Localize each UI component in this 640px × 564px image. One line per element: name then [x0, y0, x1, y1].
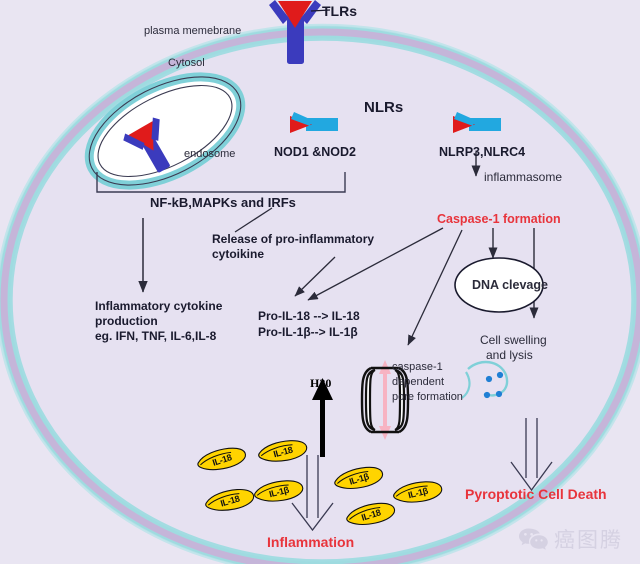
wechat-icon	[518, 527, 548, 551]
h2o-label: H20	[310, 376, 331, 390]
pore-line3: pore formation	[392, 391, 463, 404]
pyroptotic-label: Pyroptotic Cell Death	[465, 486, 607, 503]
figure-canvas: plasma memebrane Cytosol endosome TLRs N…	[0, 0, 640, 564]
inflammatory-production-line3: eg. IFN, TNF, IL-6,IL-8	[95, 329, 216, 343]
pore-line1: caspase-1	[392, 361, 443, 374]
pro-il18-label: Pro-IL-18 --> IL-18	[258, 309, 360, 323]
inflammation-label: Inflammation	[267, 534, 354, 551]
dna-cleavage-label: DNA clevage	[472, 278, 548, 293]
release-line2: cytoikine	[212, 247, 264, 261]
nod-label: NOD1 &NOD2	[274, 145, 356, 160]
watermark-text: 癌图腾	[554, 524, 623, 554]
watermark: 癌图腾	[518, 524, 623, 554]
pro-il1b-label: Pro-IL-1β--> IL-1β	[258, 325, 358, 339]
endosome-label: endosome	[184, 148, 235, 161]
inflammasome-label: inflammasome	[484, 170, 562, 184]
cell-swelling-line2: and lysis	[486, 348, 533, 362]
caspase1-formation-label: Caspase-1 formation	[437, 212, 561, 227]
nlrp3-label: NLRP3,NLRC4	[439, 145, 525, 160]
inflammatory-production-line2: production	[95, 314, 158, 328]
cytosol-label: Cytosol	[168, 57, 205, 70]
nfkb-label: NF-kB,MAPKs and IRFs	[150, 195, 296, 210]
tlrs-label: TLRs	[322, 3, 357, 20]
nlrs-label: NLRs	[364, 99, 403, 117]
plasma-membrane	[0, 25, 640, 564]
pore-line2: dependent	[392, 376, 444, 389]
inflammatory-production-line1: Inflammatory cytokine	[95, 299, 222, 313]
plasma-membrane-label: plasma memebrane	[144, 25, 241, 38]
release-line1: Release of pro-inflammatory	[212, 232, 374, 246]
cell-swelling-line1: Cell swelling	[480, 333, 547, 347]
